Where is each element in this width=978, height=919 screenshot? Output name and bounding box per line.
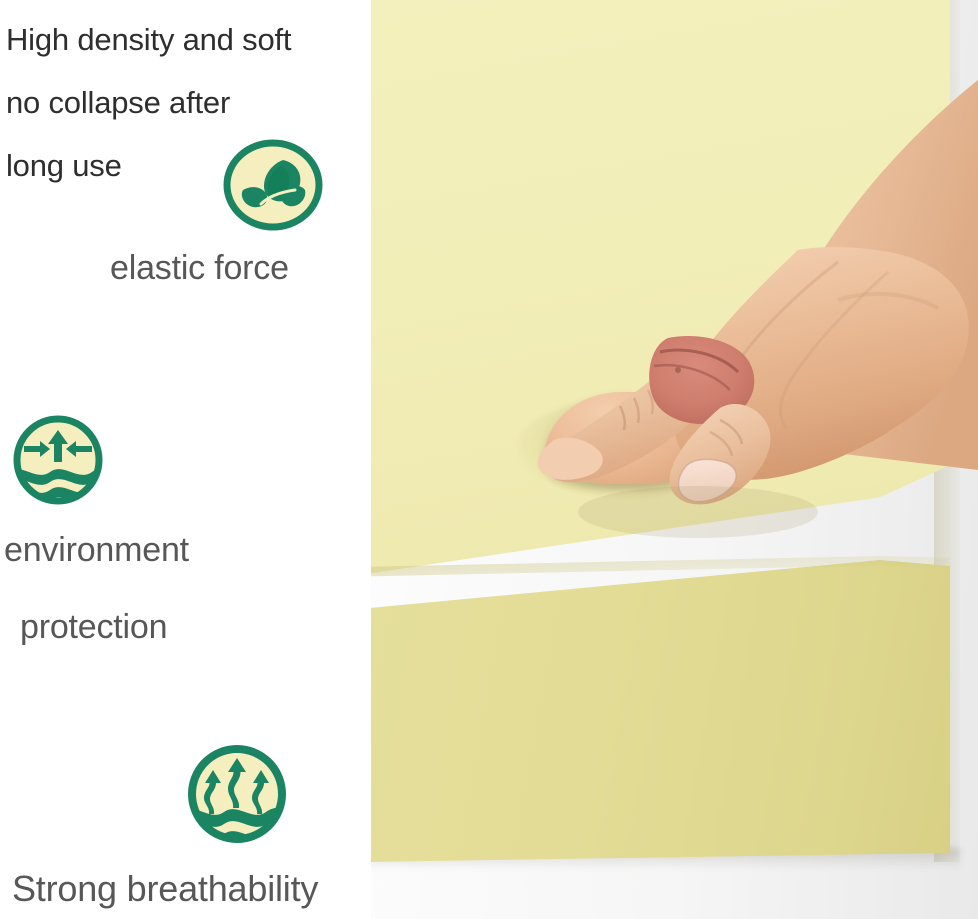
skin-mole [675, 367, 681, 373]
photo-left-edge [368, 0, 371, 919]
resilience-waves-icon [6, 414, 110, 506]
leaf-badge [221, 138, 325, 232]
leaf-icon [221, 138, 325, 232]
heading-line-1: High density and soft [6, 22, 291, 58]
product-feature-graphic: High density and soft no collapse after … [0, 0, 978, 919]
breathability-badge [182, 742, 292, 846]
elastic-force-label: elastic force [110, 249, 289, 288]
environment-label-line-2: protection [20, 608, 167, 647]
environment-badge [6, 414, 110, 506]
breathable-airflow-icon [182, 742, 292, 846]
hand-illustration [368, 0, 978, 919]
heading-line-3: long use [6, 148, 122, 184]
environment-label-line-1: environment [4, 531, 189, 570]
product-photo [368, 0, 978, 919]
breathability-label: Strong breathability [12, 868, 318, 910]
heading-line-2: no collapse after [6, 85, 230, 121]
hand-shadow [578, 486, 818, 538]
